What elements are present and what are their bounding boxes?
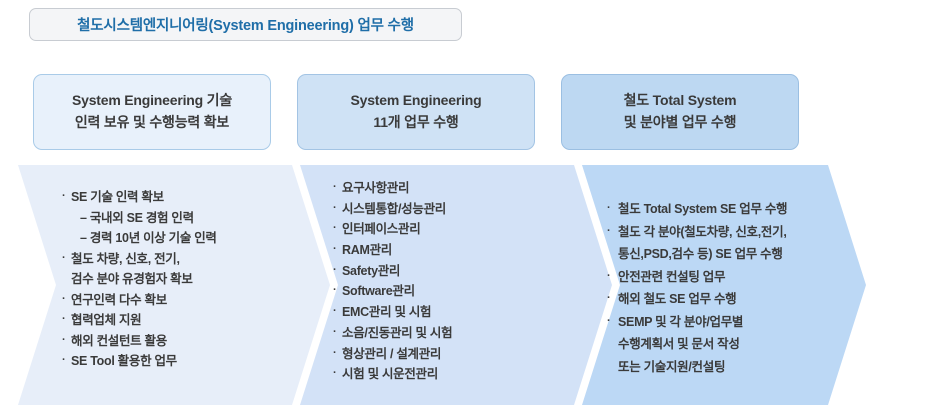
list-item: · 철도 차량, 신호, 전기, bbox=[62, 253, 277, 266]
page-title-pill: 철도시스템엔지니어링(System Engineering) 업무 수행 bbox=[29, 8, 462, 41]
list-item-label: 철도 Total System SE 업무 수행 bbox=[618, 203, 787, 216]
list-item-continuation: 수행계획서 및 문서 작성 bbox=[618, 338, 842, 351]
bullet-icon: · bbox=[607, 271, 618, 282]
bullet-icon: · bbox=[333, 306, 342, 317]
header-box-1-line-2: 인력 보유 및 수행능력 확보 bbox=[75, 112, 229, 134]
list-item-continuation: 통신,PSD,검수 등) SE 업무 수행 bbox=[618, 248, 842, 261]
list-item-label: 해외 컨설턴트 활용 bbox=[71, 335, 167, 348]
header-box-se-eleven-tasks: System Engineering 11개 업무 수행 bbox=[297, 74, 535, 150]
bullet-icon: · bbox=[62, 335, 71, 346]
list-item: · 철도 각 분야(철도차량, 신호,전기, bbox=[607, 226, 842, 239]
list-item-label: 협력업체 지원 bbox=[71, 314, 141, 327]
bullet-icon: · bbox=[62, 191, 71, 202]
list-item: · 시험 및 시운전관리 bbox=[333, 368, 533, 381]
list-item-label: 철도 차량, 신호, 전기, bbox=[71, 253, 180, 266]
list-item-label: 해외 철도 SE 업무 수행 bbox=[618, 293, 736, 306]
list-item-continuation: 검수 분야 유경험자 확보 bbox=[71, 273, 277, 286]
list-subitem: – 국내외 SE 경험 인력 bbox=[80, 212, 277, 225]
bullet-icon: · bbox=[62, 355, 71, 366]
list-item-label: 인터페이스관리 bbox=[342, 223, 420, 236]
bullet-icon: · bbox=[607, 293, 618, 304]
list-item-label: Software관리 bbox=[342, 285, 415, 298]
list-item-label: SE Tool 활용한 업무 bbox=[71, 355, 177, 368]
list-item: · 철도 Total System SE 업무 수행 bbox=[607, 203, 842, 216]
list-item-label: SEMP 및 각 분야/업무별 bbox=[618, 316, 743, 329]
list-item: · RAM관리 bbox=[333, 244, 533, 257]
list-item-label: EMC관리 및 시험 bbox=[342, 306, 431, 319]
bullet-icon: · bbox=[62, 314, 71, 325]
list-item: · 협력업체 지원 bbox=[62, 314, 277, 327]
list-item-continuation: 또는 기술지원/컨설팅 bbox=[618, 361, 842, 374]
list-item: · SEMP 및 각 분야/업무별 bbox=[607, 316, 842, 329]
header-box-3-line-2: 및 분야별 업무 수행 bbox=[624, 112, 737, 134]
bullet-icon: · bbox=[333, 348, 342, 359]
list-item-label: 연구인력 다수 확보 bbox=[71, 294, 167, 307]
header-box-3-line-1: 철도 Total System bbox=[624, 90, 737, 112]
list-item-label: 철도 각 분야(철도차량, 신호,전기, bbox=[618, 226, 787, 239]
list-subitem: – 경력 10년 이상 기술 인력 bbox=[80, 232, 277, 245]
list-item-label: 시스템통합/성능관리 bbox=[342, 203, 446, 216]
header-box-total-system: 철도 Total System 및 분야별 업무 수행 bbox=[561, 74, 799, 150]
bullet-icon: · bbox=[607, 316, 618, 327]
list-item: · 시스템통합/성능관리 bbox=[333, 203, 533, 216]
list-item-label: 시험 및 시운전관리 bbox=[342, 368, 438, 381]
bullet-icon: · bbox=[607, 226, 618, 237]
bullet-icon: · bbox=[333, 182, 342, 193]
header-box-1-line-1: System Engineering 기술 bbox=[72, 90, 232, 112]
list-item: · 해외 컨설턴트 활용 bbox=[62, 335, 277, 348]
header-box-2-line-1: System Engineering bbox=[351, 90, 482, 112]
list-item: · SE 기술 인력 확보 bbox=[62, 191, 277, 204]
list-item-label: 소음/진동관리 및 시험 bbox=[342, 327, 452, 340]
header-box-se-capability: System Engineering 기술 인력 보유 및 수행능력 확보 bbox=[33, 74, 271, 150]
list-item-label: 요구사항관리 bbox=[342, 182, 409, 195]
list-item: · 인터페이스관리 bbox=[333, 223, 533, 236]
list-item: · 해외 철도 SE 업무 수행 bbox=[607, 293, 842, 306]
bullet-icon: · bbox=[607, 203, 618, 214]
list-item-label: SE 기술 인력 확보 bbox=[71, 191, 164, 204]
page-title: 철도시스템엔지니어링(System Engineering) 업무 수행 bbox=[77, 14, 414, 35]
list-item: · 요구사항관리 bbox=[333, 182, 533, 195]
bullet-icon: · bbox=[333, 327, 342, 338]
bullet-icon: · bbox=[62, 253, 71, 264]
list-item-label: 안전관련 컨설팅 업무 bbox=[618, 271, 725, 284]
list-item-label: Safety관리 bbox=[342, 265, 400, 278]
list-item: · 연구인력 다수 확보 bbox=[62, 294, 277, 307]
list-item: · 안전관련 컨설팅 업무 bbox=[607, 271, 842, 284]
list-item: · 소음/진동관리 및 시험 bbox=[333, 327, 533, 340]
list-item: · SE Tool 활용한 업무 bbox=[62, 355, 277, 368]
bullet-icon: · bbox=[62, 294, 71, 305]
list-item-label: 형상관리 / 설계관리 bbox=[342, 348, 441, 361]
bullet-icon: · bbox=[333, 203, 342, 214]
body-column-total-system: · 철도 Total System SE 업무 수행 · 철도 각 분야(철도차… bbox=[607, 203, 842, 383]
bullet-icon: · bbox=[333, 265, 342, 276]
bullet-icon: · bbox=[333, 223, 342, 234]
bullet-icon: · bbox=[333, 285, 342, 296]
list-item: · Software관리 bbox=[333, 285, 533, 298]
bullet-icon: · bbox=[333, 368, 342, 379]
body-column-eleven-tasks: · 요구사항관리 · 시스템통합/성능관리 · 인터페이스관리 · RAM관리 … bbox=[333, 182, 533, 389]
bullet-icon: · bbox=[333, 244, 342, 255]
list-item: · EMC관리 및 시험 bbox=[333, 306, 533, 319]
header-box-2-line-2: 11개 업무 수행 bbox=[373, 112, 458, 134]
list-item: · Safety관리 bbox=[333, 265, 533, 278]
list-item: · 형상관리 / 설계관리 bbox=[333, 348, 533, 361]
list-item-label: RAM관리 bbox=[342, 244, 392, 257]
body-column-se-capability: · SE 기술 인력 확보 – 국내외 SE 경험 인력 – 경력 10년 이상… bbox=[62, 191, 277, 376]
